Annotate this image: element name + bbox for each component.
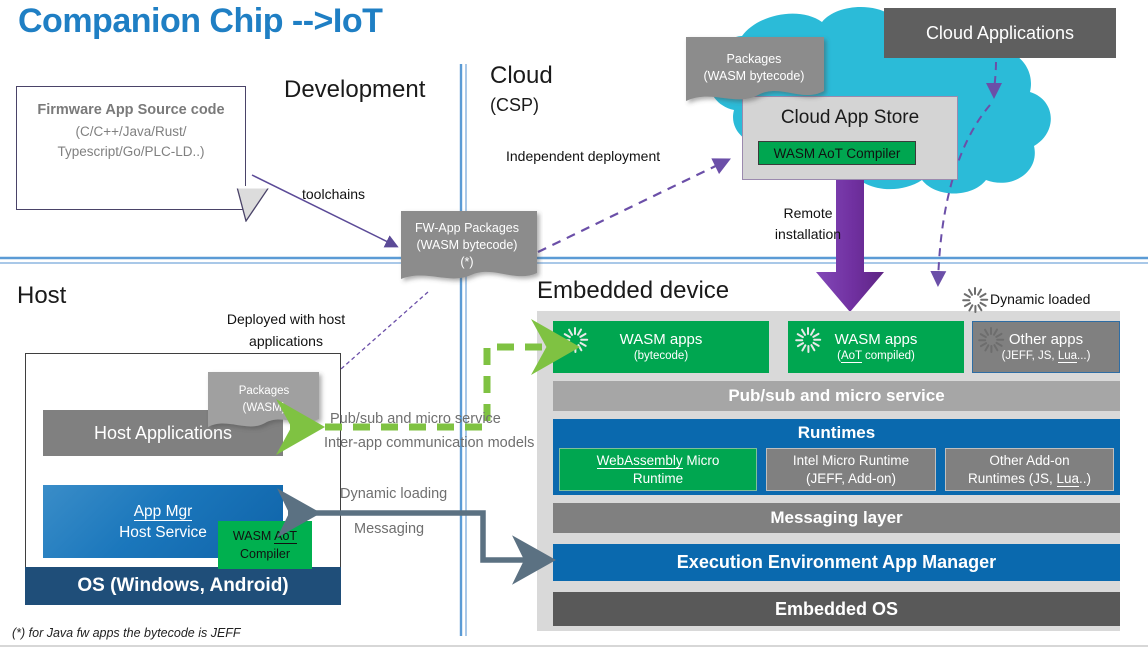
host-packages-label: Packages (WASM) — [209, 373, 319, 427]
embedded-os: Embedded OS — [553, 592, 1120, 626]
firmware-source-text: Firmware App Source code (C/C++/Java/Rus… — [16, 100, 246, 162]
fw-pkg-line3: (*) — [415, 254, 519, 271]
host-os-box: OS (Windows, Android) — [25, 567, 341, 605]
cloud-aot-label: WASM AoT Compiler — [774, 146, 901, 161]
legend-spinner-icon — [962, 287, 988, 313]
host-aot-line2: Compiler — [240, 545, 290, 563]
app-manager-label: Execution Environment App Manager — [677, 552, 996, 573]
host-os-label: OS (Windows, Android) — [77, 575, 288, 597]
independent-deployment-arrow — [538, 160, 728, 252]
cloud-applications-arrow — [994, 62, 996, 96]
section-heading-embedded-device: Embedded device — [537, 277, 729, 305]
firmware-line2: (C/C++/Java/Rust/ — [75, 124, 186, 139]
fw-pkg-line1: FW-App Packages — [415, 220, 519, 237]
runtimes-header-label: Runtimes — [798, 423, 875, 443]
embedded-app-manager: Execution Environment App Manager — [553, 544, 1120, 581]
cloud-wasm-aot-compiler: WASM AoT Compiler — [758, 141, 916, 165]
embedded-messaging-layer: Messaging layer — [553, 503, 1120, 533]
runtime-intel-micro: Intel Micro Runtime (JEFF, Add-on) — [766, 448, 936, 491]
fw-pkg-line2: (WASM bytecode) — [415, 237, 519, 254]
app0-line1: WASM apps — [620, 330, 703, 349]
deployed-line2: applications — [221, 330, 351, 352]
cloud-applications-label: Cloud Applications — [926, 23, 1074, 44]
app1-line2: (AoT compiled) — [837, 349, 915, 364]
section-heading-host: Host — [17, 282, 66, 310]
firmware-callout-tail — [236, 186, 270, 222]
label-pubsub-micro-service: Pub/sub and micro service — [330, 411, 501, 427]
cloud-app-store-title: Cloud App Store — [743, 107, 957, 129]
app2-line2: (JEFF, JS, Lua...) — [1002, 349, 1091, 364]
runtime-wamr: WebAssembly Micro Runtime — [559, 448, 757, 491]
dynamic-loaded-spinner-icon — [562, 327, 588, 353]
cloud-packages-label: Packages (WASM bytecode) — [686, 37, 822, 99]
label-messaging: Messaging — [354, 521, 424, 537]
firmware-line3: Typescript/Go/PLC-LD..) — [57, 144, 204, 159]
cloud-pkg-line2: (WASM bytecode) — [704, 68, 805, 85]
rt0-line1: WebAssembly Micro — [597, 452, 720, 470]
diagram-canvas: Companion Chip -->IoT Development Cloud … — [0, 0, 1148, 653]
host-aot-line1: WASM AoT — [233, 527, 297, 545]
host-pkg-line1: Packages — [239, 383, 290, 400]
host-wasm-aot-compiler-box: WASM AoT Compiler — [218, 521, 312, 569]
label-inter-app-communication: Inter-app communication models — [324, 435, 534, 451]
deployed-line1: Deployed with host — [221, 308, 351, 330]
section-subheading-csp: (CSP) — [490, 95, 539, 116]
runtime-other-addon: Other Add-on Runtimes (JS, Lua..) — [945, 448, 1114, 491]
app-mgr-line2: Host Service — [119, 522, 207, 543]
firmware-heading: Firmware App Source code — [16, 100, 246, 120]
app1-line1: WASM apps — [835, 330, 918, 349]
host-pkg-line2: (WASM) — [239, 400, 290, 417]
section-heading-development: Development — [284, 76, 425, 104]
embedded-pubsub-bar: Pub/sub and micro service — [553, 381, 1120, 411]
dynamic-loaded-spinner-icon-3 — [978, 327, 1004, 353]
messaging-layer-label: Messaging layer — [770, 508, 902, 528]
runtimes-header: Runtimes — [553, 421, 1120, 445]
rt1-line1: Intel Micro Runtime — [793, 452, 909, 470]
footnote-text: (*) for Java fw apps the bytecode is JEF… — [12, 626, 241, 640]
remote-line1: Remote — [773, 203, 843, 224]
embedded-runtimes-block: Runtimes WebAssembly Micro Runtime Intel… — [553, 419, 1120, 495]
rt2-line1: Other Add-on — [989, 452, 1069, 470]
fw-app-packages-label: FW-App Packages (WASM bytecode) (*) — [401, 211, 533, 279]
page-title: Companion Chip -->IoT — [18, 2, 382, 41]
label-deployed-with-host: Deployed with host applications — [221, 308, 351, 352]
app2-line1: Other apps — [1009, 330, 1083, 349]
label-toolchains: toolchains — [302, 186, 365, 202]
cloud-pkg-line1: Packages — [704, 51, 805, 68]
rt2-line2: Runtimes (JS, Lua..) — [968, 470, 1091, 488]
footnote: (*) for Java fw apps the bytecode is JEF… — [12, 626, 241, 640]
dynamic-loaded-spinner-icon-2 — [795, 327, 821, 353]
remote-line2: installation — [773, 224, 843, 245]
embedded-os-label: Embedded OS — [775, 599, 898, 620]
rt1-line2: (JEFF, Add-on) — [806, 470, 896, 488]
label-independent-deployment: Independent deployment — [506, 148, 660, 164]
label-dynamic-loaded: Dynamic loaded — [990, 291, 1090, 307]
app-mgr-line1: App Mgr — [134, 501, 193, 522]
label-dynamic-loading: Dynamic loading — [340, 486, 447, 502]
cloud-applications-box: Cloud Applications — [884, 8, 1116, 58]
section-heading-cloud: Cloud — [490, 62, 553, 90]
app0-line2: (bytecode) — [634, 349, 688, 364]
label-remote-installation: Remote installation — [773, 203, 843, 245]
rt0-line2: Runtime — [633, 470, 683, 488]
pubsub-label: Pub/sub and micro service — [728, 386, 944, 406]
